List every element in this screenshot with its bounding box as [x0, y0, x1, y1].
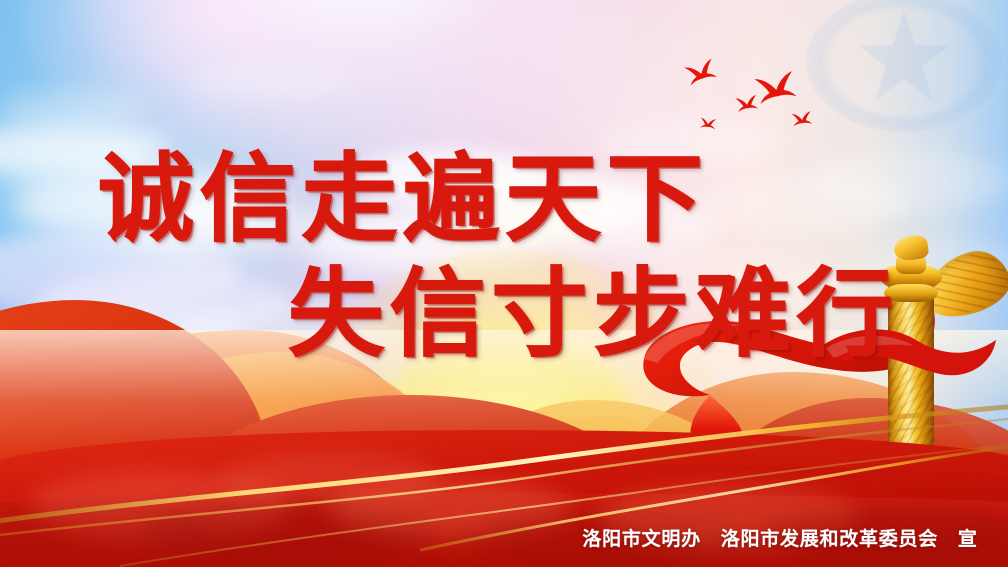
cloud-shape [0, 86, 150, 124]
column-ribbon [820, 300, 1008, 440]
issuer-credit: 洛阳市文明办 洛阳市发展和改革委员会 宣 [580, 524, 980, 551]
dove-icon [791, 111, 813, 128]
column-ribbon-path [822, 329, 996, 375]
cloud-shape [190, 60, 350, 100]
star-watermark [806, 0, 1002, 132]
cloud-shape [600, 120, 780, 168]
cloud-shape [810, 150, 1008, 212]
dove-icon [699, 117, 716, 130]
poster-canvas: 诚信走遍天下 失信寸步难行 洛阳市文明办 洛阳市发展和改革委员会 宣 [0, 0, 1008, 567]
cloud-shape [120, 196, 310, 252]
